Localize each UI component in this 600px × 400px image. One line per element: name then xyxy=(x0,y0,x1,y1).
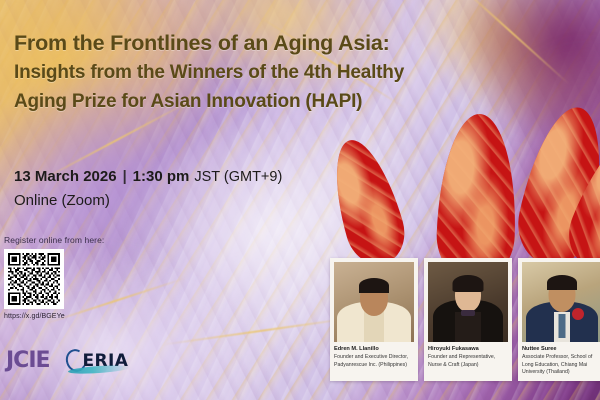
eria-logo[interactable]: ERIA xyxy=(66,349,129,372)
registration-block: Register online from here: xyxy=(4,235,104,320)
speaker-name: Hiroyuki Fukasawa xyxy=(428,346,508,353)
speaker-photo xyxy=(522,262,600,342)
speaker-card[interactable]: Hiroyuki Fukasawa Founder and Representa… xyxy=(424,258,512,381)
speaker-role: Founder and Representative, xyxy=(428,354,508,361)
register-label: Register online from here: xyxy=(4,235,104,245)
speaker-list: Edren M. Llanillo Founder and Executive … xyxy=(330,258,600,381)
speaker-org: Nurse & Craft (Japan) xyxy=(428,362,508,369)
title-line-2: Insights from the Winners of the 4th Hea… xyxy=(14,61,514,85)
event-timezone: JST (GMT+9) xyxy=(194,169,282,185)
speaker-role: Associate Professor, School of xyxy=(522,354,600,361)
event-mode: Online (Zoom) xyxy=(14,192,282,209)
title-line-3: Aging Prize for Asian Innovation (HAPI) xyxy=(14,90,514,114)
speaker-name: Edren M. Llanillo xyxy=(334,346,414,353)
speaker-bowtie xyxy=(461,310,475,316)
webinar-poster: From the Frontlines of an Aging Asia: In… xyxy=(0,0,600,400)
speaker-hair xyxy=(359,278,389,293)
event-datetime-row: 13 March 2026 | 1:30 pm JST (GMT+9) xyxy=(14,168,282,185)
speaker-photo xyxy=(334,262,414,342)
qr-code-container[interactable] xyxy=(4,249,64,309)
registration-url[interactable]: https://x.gd/BGEYe xyxy=(4,313,104,320)
speaker-org: Long Education, Chiang Mai University (T… xyxy=(522,362,600,376)
speaker-boutonniere xyxy=(572,308,584,320)
speaker-tie xyxy=(559,314,566,338)
speaker-hair xyxy=(453,275,484,292)
speaker-role: Founder and Executive Director, xyxy=(334,354,414,361)
petal-shape xyxy=(321,132,412,271)
title-line-1: From the Frontlines of an Aging Asia: xyxy=(14,30,514,57)
poster-title: From the Frontlines of an Aging Asia: In… xyxy=(14,30,514,114)
event-date: 13 March 2026 xyxy=(14,168,117,185)
event-separator: | xyxy=(122,169,128,185)
speaker-shirt xyxy=(455,312,481,342)
speaker-hair xyxy=(547,275,577,290)
qr-code-icon[interactable] xyxy=(8,253,60,305)
speaker-photo xyxy=(428,262,508,342)
speaker-name: Nuttee Suree xyxy=(522,346,600,353)
speaker-org: Padyanrescue Inc. (Philippines) xyxy=(334,362,414,369)
organizer-logos: JCIE ERIA xyxy=(6,348,128,373)
event-details: 13 March 2026 | 1:30 pm JST (GMT+9) Onli… xyxy=(14,168,282,209)
speaker-card[interactable]: Edren M. Llanillo Founder and Executive … xyxy=(330,258,418,381)
speaker-card[interactable]: Nuttee Suree Associate Professor, School… xyxy=(518,258,600,381)
event-time: 1:30 pm xyxy=(133,168,190,185)
jcie-logo[interactable]: JCIE xyxy=(6,348,50,373)
